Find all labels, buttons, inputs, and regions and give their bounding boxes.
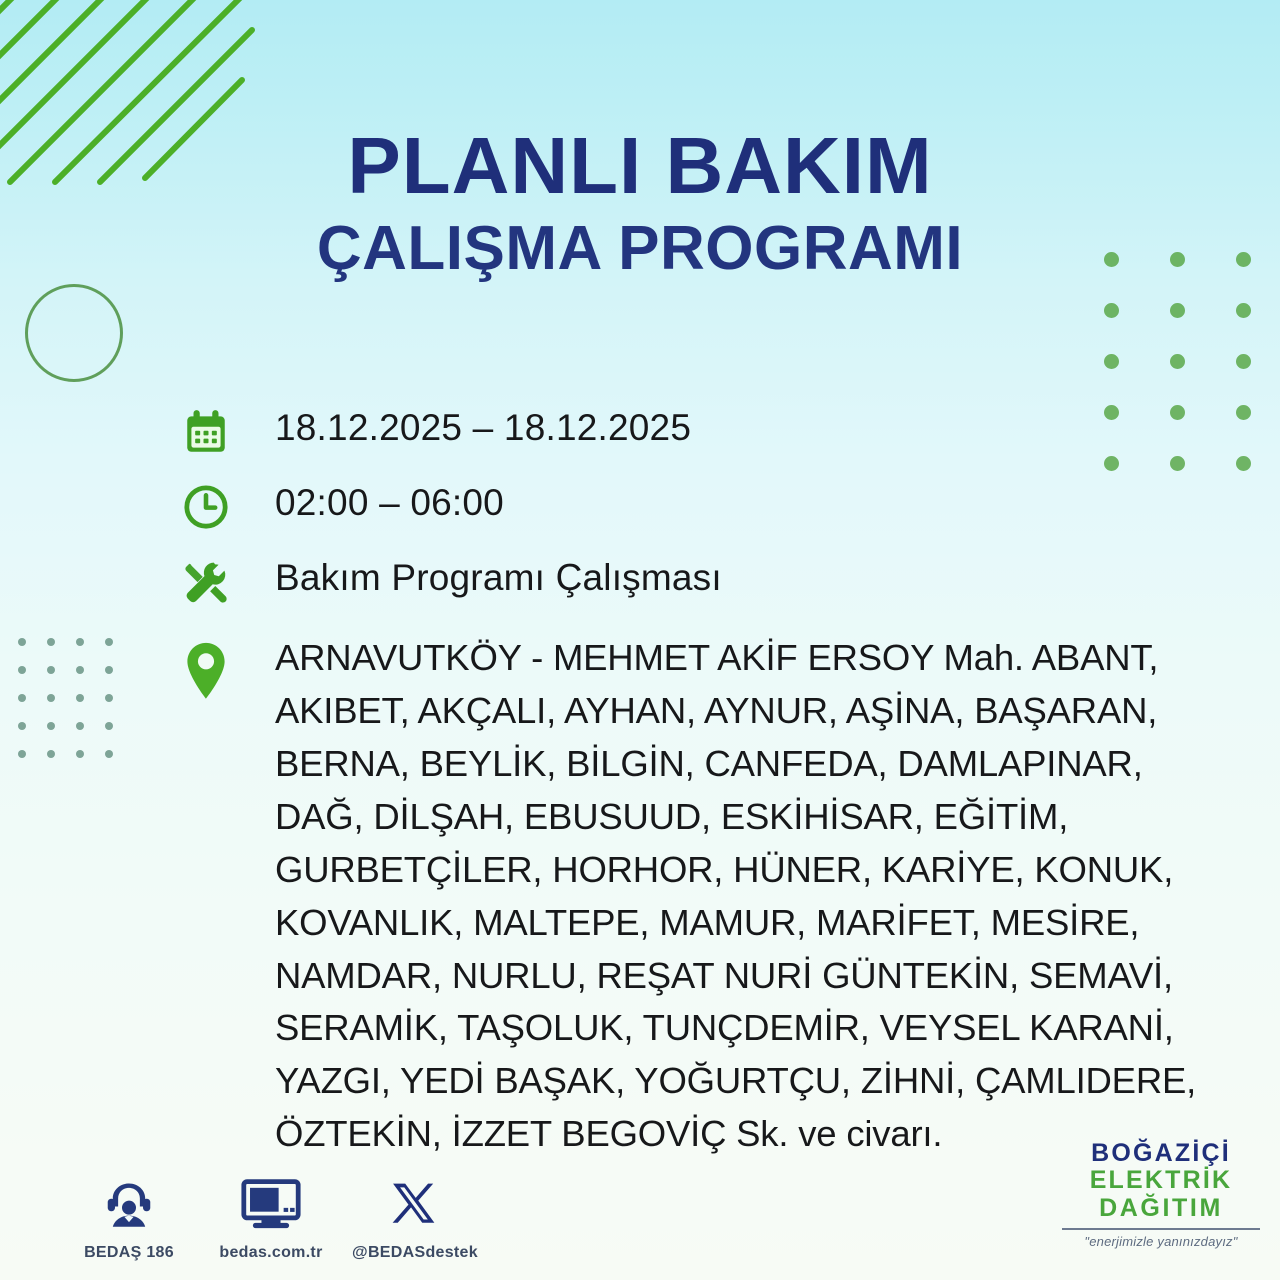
poster-footer: BEDAŞ 186 bedas.com.tr @BEDASdestek BOĞA… — [0, 1150, 1280, 1270]
brand-line-1: BOĞAZİÇİ — [1056, 1141, 1266, 1166]
maintenance-date-range: 18.12.2025 – 18.12.2025 — [237, 405, 691, 450]
headset-support-icon — [100, 1176, 158, 1234]
footer-contact-phone[interactable]: BEDAŞ 186 — [64, 1176, 194, 1262]
monitor-icon — [240, 1176, 302, 1234]
poster-header: PLANLI BAKIM ÇALIŞMA PROGRAMI — [0, 126, 1280, 281]
info-row-date: 18.12.2025 – 18.12.2025 — [175, 405, 1220, 457]
maintenance-info-list: 18.12.2025 – 18.12.2025 02:00 – 06:00 — [175, 405, 1220, 1184]
calendar-icon — [175, 405, 237, 457]
footer-website[interactable]: bedas.com.tr — [196, 1176, 346, 1262]
clock-icon — [175, 480, 237, 532]
info-row-work-type: Bakım Programı Çalışması — [175, 555, 1220, 609]
poster-canvas: PLANLI BAKIM ÇALIŞMA PROGRAMI — [0, 0, 1280, 1280]
info-row-time: 02:00 – 06:00 — [175, 480, 1220, 532]
bogazici-elektrik-dagitim-logo: BOĞAZİÇİ ELEKTRİK DAĞITIM "enerjimizle y… — [1056, 1141, 1266, 1248]
brand-line-3: DAĞITIM — [1056, 1196, 1266, 1221]
dot-grid-left-decoration — [18, 638, 134, 778]
page-subtitle: ÇALIŞMA PROGRAMI — [0, 216, 1280, 281]
maintenance-time-range: 02:00 – 06:00 — [237, 480, 504, 525]
footer-social-x[interactable]: @BEDASdestek — [330, 1178, 500, 1262]
circle-outline-decoration — [25, 284, 123, 382]
map-pin-icon — [175, 632, 237, 702]
info-row-location: ARNAVUTKÖY - MEHMET AKİF ERSOY Mah. ABAN… — [175, 632, 1220, 1161]
brand-tagline: "enerjimizle yanınızdayız" — [1056, 1235, 1266, 1248]
maintenance-work-type: Bakım Programı Çalışması — [237, 555, 722, 600]
page-title: PLANLI BAKIM — [0, 126, 1280, 206]
footer-social-label: @BEDASdestek — [330, 1244, 500, 1262]
footer-phone-label: BEDAŞ 186 — [64, 1244, 194, 1262]
x-twitter-icon — [387, 1178, 443, 1234]
affected-streets-text: ARNAVUTKÖY - MEHMET AKİF ERSOY Mah. ABAN… — [237, 632, 1215, 1161]
brand-divider — [1062, 1228, 1260, 1230]
brand-line-2: ELEKTRİK — [1056, 1168, 1266, 1193]
tools-icon — [175, 555, 237, 609]
footer-web-label: bedas.com.tr — [196, 1244, 346, 1262]
